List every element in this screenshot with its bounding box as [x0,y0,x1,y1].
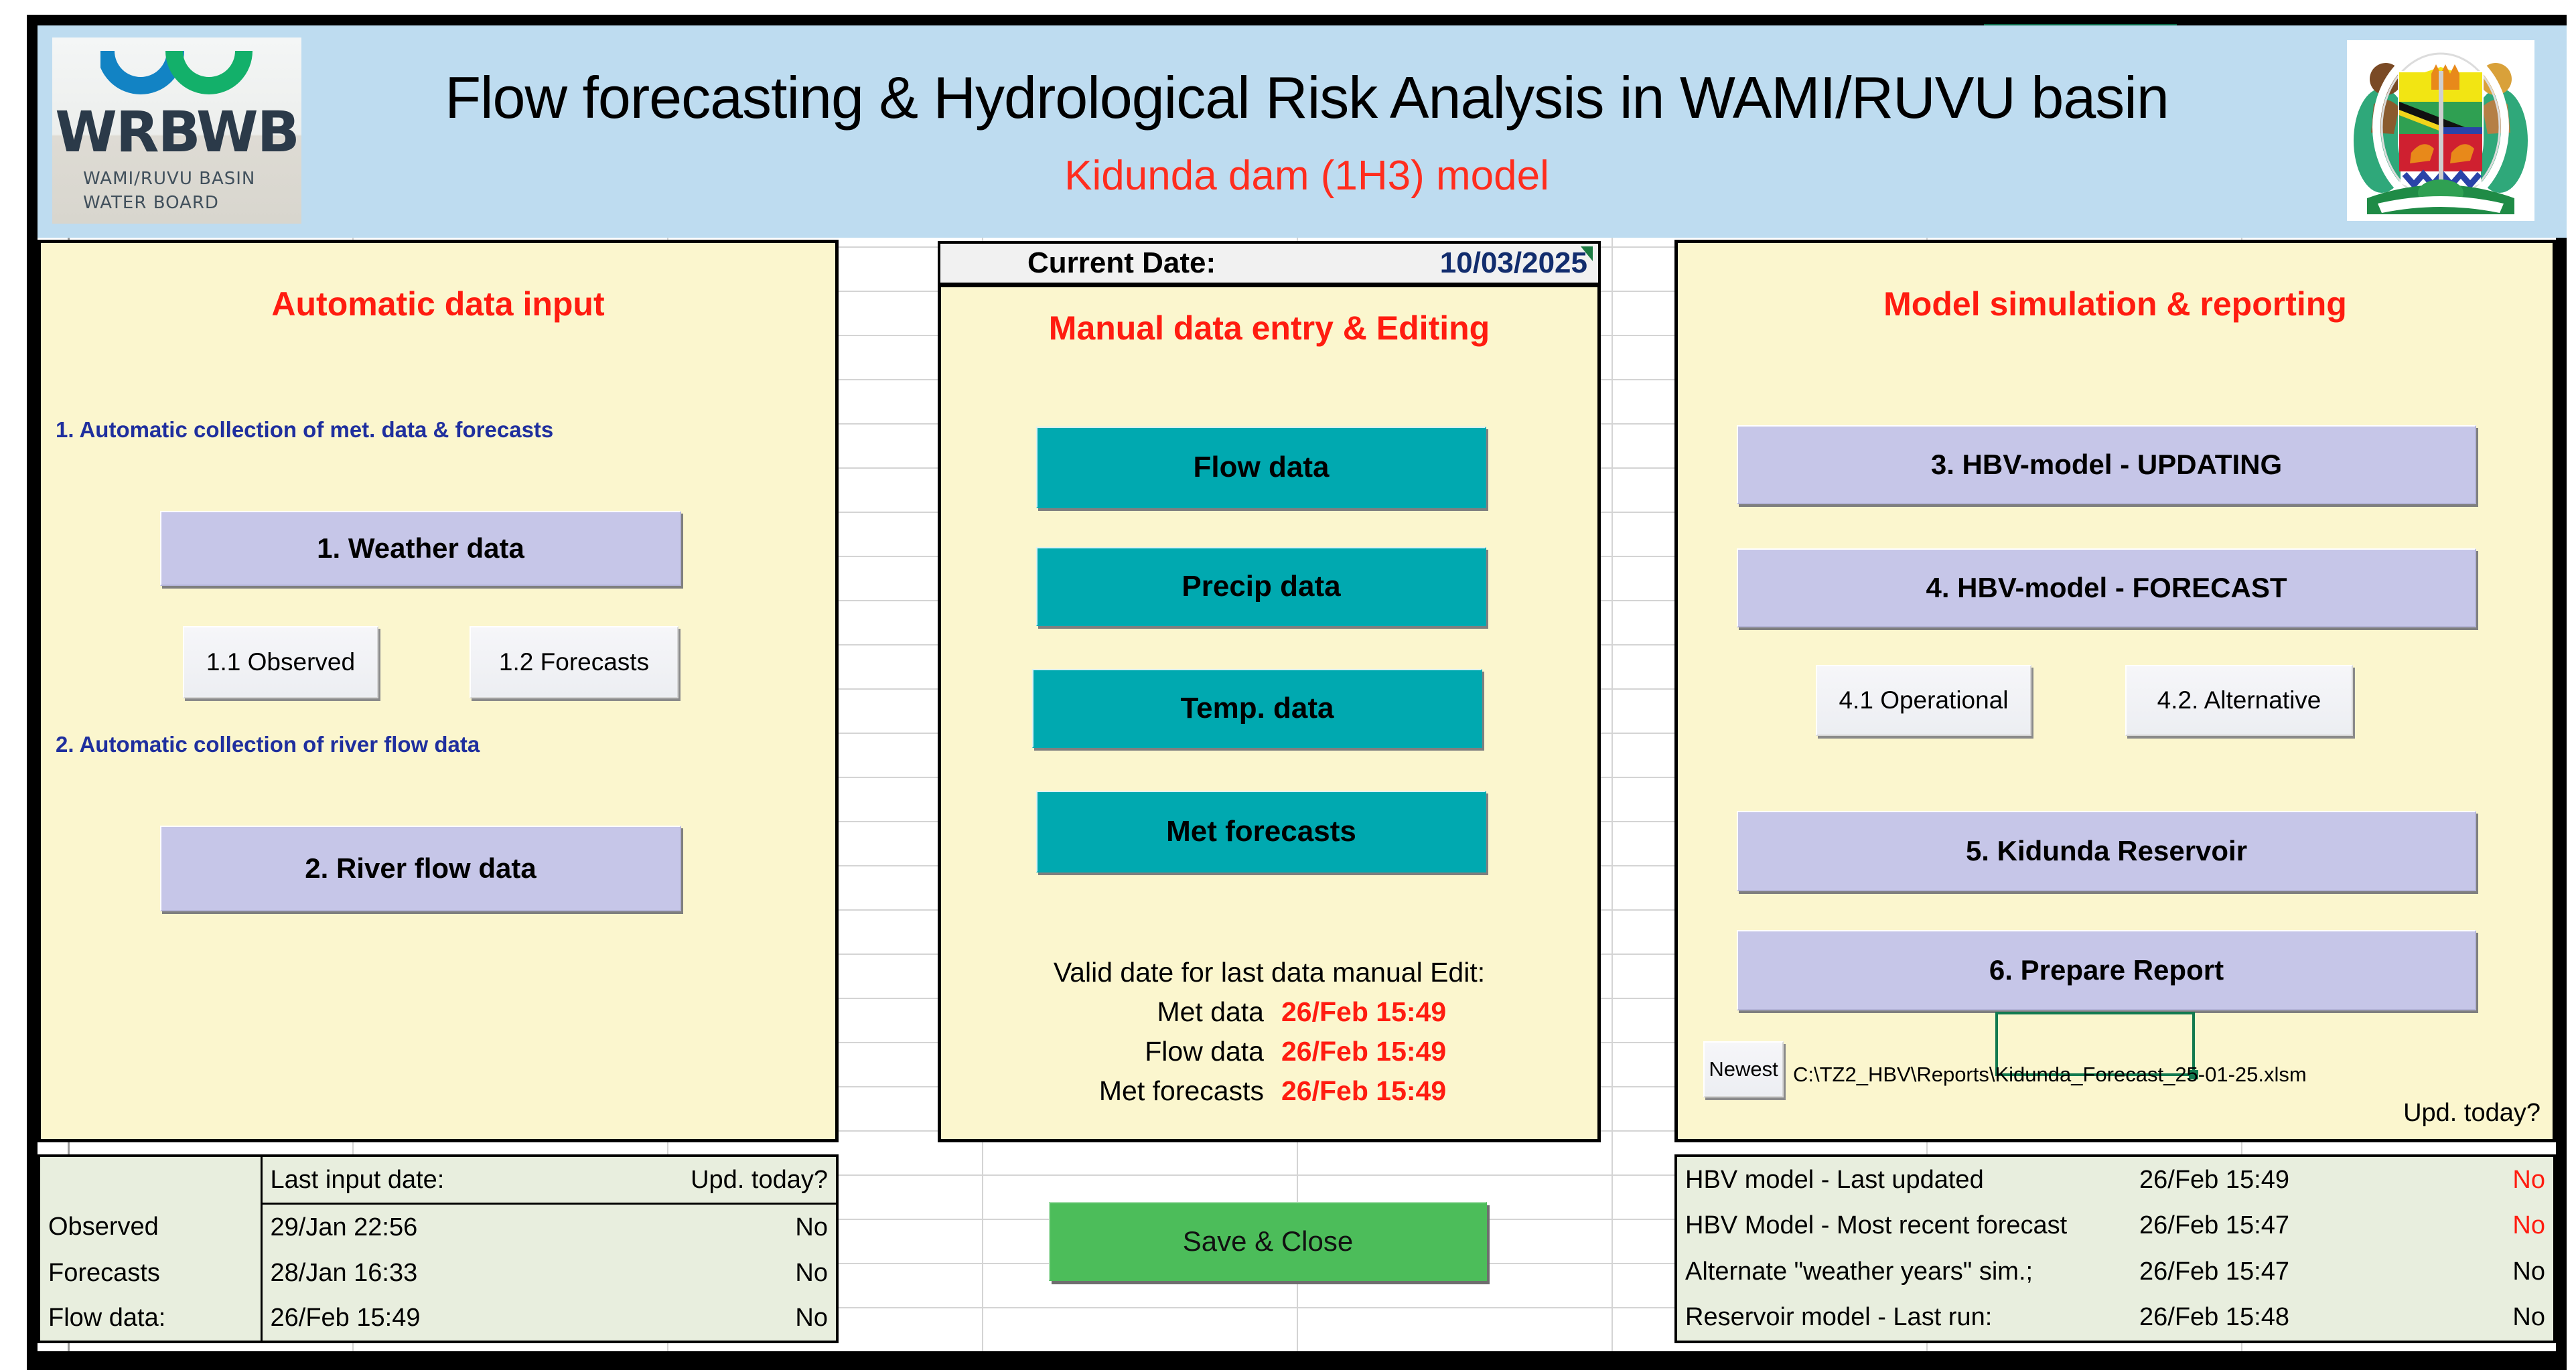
met-forecasts-button[interactable]: Met forecasts [1036,791,1486,872]
left-status-table: Last input date: Upd. today? Observed 29… [38,1154,839,1343]
left-panel-section-2-label: 2. Automatic collection of river flow da… [56,732,480,757]
prepare-report-button[interactable]: 6. Prepare Report [1737,930,2476,1010]
right-row-3-flag: No [2352,1295,2553,1341]
table-row: Flow data: 26/Feb 15:49 No [40,1296,836,1341]
valid-date-row: Met data 26/Feb 15:49 [941,996,1597,1028]
left-row-2-flag: No [635,1296,836,1341]
right-row-3-date: 26/Feb 15:48 [2131,1295,2352,1341]
right-row-1-label: HBV Model - Most recent forecast [1677,1203,2131,1249]
operational-button[interactable]: 4.1 Operational [1816,665,2031,736]
right-status-table: HBV model - Last updated 26/Feb 15:49 No… [1674,1154,2556,1343]
save-and-close-button[interactable]: Save & Close [1049,1202,1487,1281]
left-panel-title: Automatic data input [41,285,835,323]
table-row: Observed 29/Jan 22:56 No [40,1204,836,1251]
left-row-2-date: 26/Feb 15:49 [261,1296,635,1341]
left-row-1-date: 28/Jan 16:33 [261,1250,635,1295]
valid-date-block: Valid date for last data manual Edit: Me… [941,957,1597,1107]
valid-flow-data-value: 26/Feb 15:49 [1281,1036,1476,1067]
hbv-model-updating-button[interactable]: 3. HBV-model - UPDATING [1737,425,2476,504]
current-date-cell[interactable]: Current Date: 10/03/2025 [938,241,1601,285]
table-row: HBV model - Last updated 26/Feb 15:49 No [1677,1157,2553,1203]
flow-data-button[interactable]: Flow data [1036,427,1486,508]
left-row-0-date: 29/Jan 22:56 [261,1204,635,1251]
valid-met-data-value: 26/Feb 15:49 [1281,996,1476,1028]
alternative-button[interactable]: 4.2. Alternative [2125,665,2353,736]
header-banner: WRBWB WAMI/RUVU BASIN WATER BOARD Flow f… [38,25,2567,238]
left-row-0-label: Observed [40,1204,261,1251]
current-date-label: Current Date: [1027,246,1216,280]
temp-data-button[interactable]: Temp. data [1032,669,1482,748]
tanzania-coat-of-arms-icon [2347,40,2534,221]
table-row: Forecasts 28/Jan 16:33 No [40,1250,836,1295]
hbv-model-forecast-button[interactable]: 4. HBV-model - FORECAST [1737,548,2476,627]
right-row-2-date: 26/Feb 15:47 [2131,1249,2352,1295]
left-row-2-label: Flow data: [40,1296,261,1341]
left-panel-section-1-label: 1. Automatic collection of met. data & f… [56,417,835,443]
forecasts-button[interactable]: 1.2 Forecasts [470,626,678,698]
right-panel-upd-today-label: Upd. today? [2403,1099,2541,1128]
right-row-1-flag: No [2352,1203,2553,1249]
cell-comment-flag-icon [1581,246,1593,261]
report-path-row: Newest C:\TZ2_HBV\Reports\Kidunda_Foreca… [1703,1041,2307,1097]
river-flow-data-button[interactable]: 2. River flow data [160,826,681,911]
right-row-3-label: Reservoir model - Last run: [1677,1295,2131,1341]
valid-met-forecasts-label: Met forecasts [1063,1075,1264,1107]
frame-bottom-border [38,1351,2567,1370]
left-panel-automatic-data-input: Automatic data input 1. Automatic collec… [38,240,839,1142]
valid-met-forecasts-value: 26/Feb 15:49 [1281,1075,1476,1107]
right-panel-model-simulation: Model simulation & reporting 3. HBV-mode… [1674,240,2556,1142]
excel-dashboard: WRBWB WAMI/RUVU BASIN WATER BOARD Flow f… [0,0,2576,1370]
left-row-0-flag: No [635,1204,836,1251]
valid-date-heading: Valid date for last data manual Edit: [941,957,1597,988]
current-date-value: 10/03/2025 [1440,246,1587,280]
valid-date-row: Met forecasts 26/Feb 15:49 [941,1075,1597,1107]
middle-panel-manual-data-entry: Manual data entry & Editing Flow data Pr… [938,284,1601,1142]
report-file-path: C:\TZ2_HBV\Reports\Kidunda_Forecast_25-0… [1793,1063,2307,1087]
wrbwb-arcs-icon [100,50,255,103]
right-panel-title: Model simulation & reporting [1678,285,2553,323]
left-table-header-date: Last input date: [261,1157,635,1204]
left-table-header-blank [40,1157,261,1204]
valid-met-data-label: Met data [1063,996,1264,1028]
left-row-1-label: Forecasts [40,1250,261,1295]
right-row-1-date: 26/Feb 15:47 [2131,1203,2352,1249]
right-row-0-label: HBV model - Last updated [1677,1157,2131,1203]
right-row-0-flag: No [2352,1157,2553,1203]
right-row-2-flag: No [2352,1249,2553,1295]
table-row: Reservoir model - Last run: 26/Feb 15:48… [1677,1295,2553,1341]
table-row: Last input date: Upd. today? [40,1157,836,1204]
valid-date-row: Flow data 26/Feb 15:49 [941,1036,1597,1067]
precip-data-button[interactable]: Precip data [1036,547,1486,626]
page-subtitle: Kidunda dam (1H3) model [1064,152,1549,200]
wrbwb-subline-1: WAMI/RUVU BASIN [83,169,255,189]
newest-button[interactable]: Newest [1703,1041,1784,1097]
page-title: Flow forecasting & Hydrological Risk Ana… [445,64,2169,132]
wrbwb-logo: WRBWB WAMI/RUVU BASIN WATER BOARD [52,37,301,224]
header-title-block: Flow forecasting & Hydrological Risk Ana… [319,25,2295,238]
middle-panel-title: Manual data entry & Editing [941,309,1597,348]
valid-flow-data-label: Flow data [1063,1036,1264,1067]
weather-data-button[interactable]: 1. Weather data [160,511,681,586]
left-row-1-flag: No [635,1250,836,1295]
frame-left-border [27,15,38,1370]
table-row: Alternate "weather years" sim.; 26/Feb 1… [1677,1249,2553,1295]
wrbwb-wordmark: WRBWB [52,99,301,165]
kidunda-reservoir-button[interactable]: 5. Kidunda Reservoir [1737,811,2476,891]
frame-top-border [38,15,2567,25]
right-row-0-date: 26/Feb 15:49 [2131,1157,2352,1203]
observed-button[interactable]: 1.1 Observed [183,626,378,698]
table-row: HBV Model - Most recent forecast 26/Feb … [1677,1203,2553,1249]
right-row-2-label: Alternate "weather years" sim.; [1677,1249,2131,1295]
left-table-header-flag: Upd. today? [635,1157,836,1204]
wrbwb-subline-2: WATER BOARD [83,193,219,213]
